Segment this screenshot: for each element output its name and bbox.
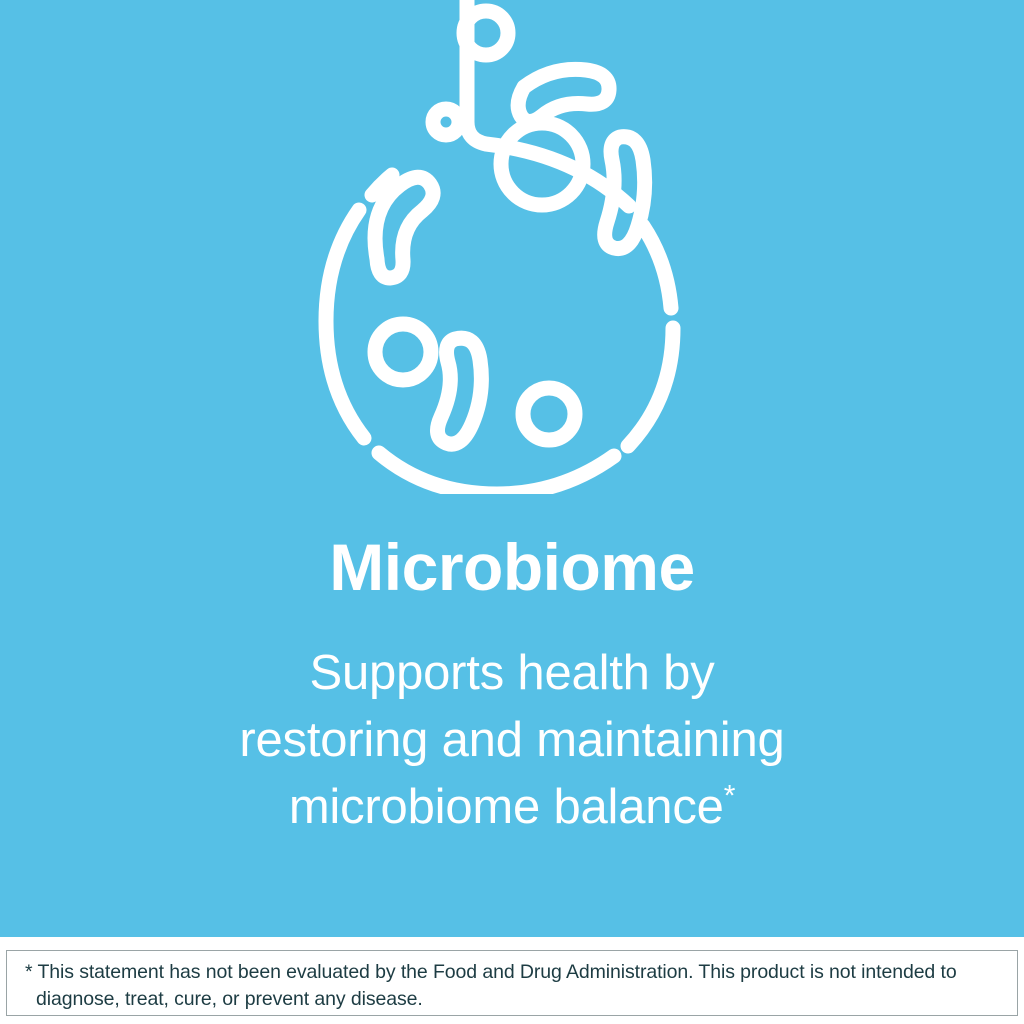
hero-panel: Microbiome Supports health by restoring … [0,0,1024,937]
disclaimer-box: * This statement has not been evaluated … [6,950,1018,1016]
benefit-line-1: Supports health by [0,640,1024,707]
benefit-line-3-text: microbiome balance [289,780,724,834]
disclaimer-text: * This statement has not been evaluated … [25,959,996,1013]
footnote-asterisk: * [724,780,735,813]
benefit-line-3: microbiome balance* [0,774,1024,841]
product-benefit-card: Microbiome Supports health by restoring … [0,0,1024,1024]
page-title: Microbiome [0,527,1024,607]
microbiome-petri-dish-icon [296,0,726,494]
benefit-line-2: restoring and maintaining [0,707,1024,774]
benefit-description: Supports health by restoring and maintai… [0,640,1024,841]
